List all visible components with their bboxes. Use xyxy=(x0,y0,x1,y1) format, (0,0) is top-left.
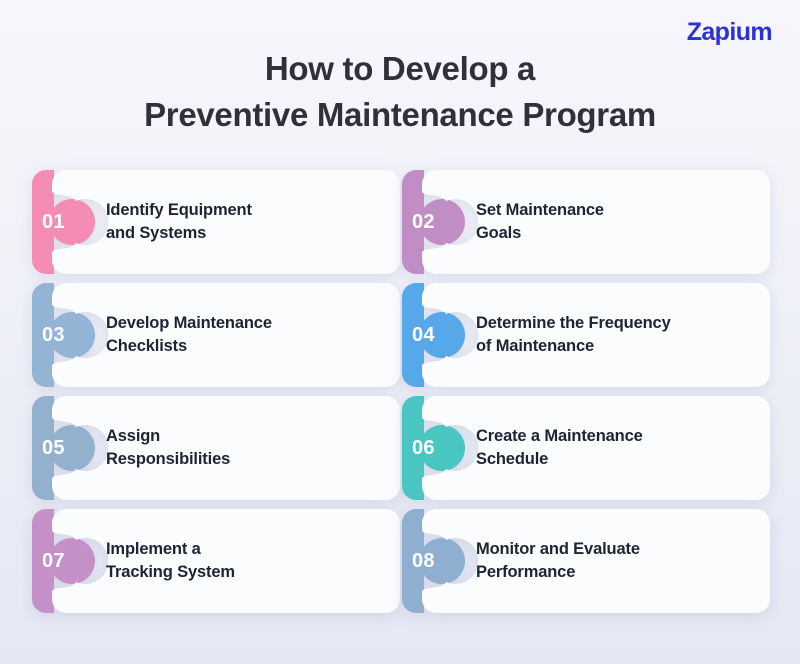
step-label: Create a MaintenanceSchedule xyxy=(476,396,754,500)
step-accent-bulge xyxy=(49,425,95,471)
step-label-line-2: Goals xyxy=(476,222,754,245)
brand-logo: Zapium xyxy=(687,20,772,45)
step-accent-bulge xyxy=(419,538,465,584)
step-card[interactable]: 08Monitor and EvaluatePerformance xyxy=(402,509,770,613)
page-title: How to Develop a Preventive Maintenance … xyxy=(0,46,800,137)
steps-grid: 01Identify Equipmentand Systems02Set Mai… xyxy=(32,170,770,613)
step-label: AssignResponsibilities xyxy=(106,396,384,500)
step-label-line-2: Responsibilities xyxy=(106,448,384,471)
step-accent-bulge xyxy=(49,199,95,245)
step-label-line-1: Identify Equipment xyxy=(106,199,384,222)
step-label-line-2: and Systems xyxy=(106,222,384,245)
step-label: Implement aTracking System xyxy=(106,509,384,613)
step-label-line-1: Create a Maintenance xyxy=(476,425,754,448)
step-label: Set MaintenanceGoals xyxy=(476,170,754,274)
step-card[interactable]: 02Set MaintenanceGoals xyxy=(402,170,770,274)
step-accent-bulge xyxy=(49,312,95,358)
brand-name: Zapium xyxy=(687,20,772,45)
step-label-line-2: Schedule xyxy=(476,448,754,471)
step-label: Identify Equipmentand Systems xyxy=(106,170,384,274)
step-label: Develop MaintenanceChecklists xyxy=(106,283,384,387)
step-label-line-1: Implement a xyxy=(106,538,384,561)
step-label-line-2: Tracking System xyxy=(106,561,384,584)
step-label-line-1: Monitor and Evaluate xyxy=(476,538,754,561)
step-accent-bulge xyxy=(419,425,465,471)
step-label-line-2: Performance xyxy=(476,561,754,584)
step-label-line-1: Set Maintenance xyxy=(476,199,754,222)
step-card[interactable]: 06Create a MaintenanceSchedule xyxy=(402,396,770,500)
step-card[interactable]: 04Determine the Frequencyof Maintenance xyxy=(402,283,770,387)
page-title-line-1: How to Develop a xyxy=(0,46,800,92)
step-label-line-2: of Maintenance xyxy=(476,335,754,358)
step-card[interactable]: 07Implement aTracking System xyxy=(32,509,400,613)
step-label-line-1: Develop Maintenance xyxy=(106,312,384,335)
page-title-line-2: Preventive Maintenance Program xyxy=(0,92,800,138)
step-label: Monitor and EvaluatePerformance xyxy=(476,509,754,613)
step-label-line-1: Determine the Frequency xyxy=(476,312,754,335)
step-accent-bulge xyxy=(419,199,465,245)
step-card[interactable]: 03Develop MaintenanceChecklists xyxy=(32,283,400,387)
step-accent-bulge xyxy=(419,312,465,358)
step-card[interactable]: 01Identify Equipmentand Systems xyxy=(32,170,400,274)
step-accent-bulge xyxy=(49,538,95,584)
infographic-page: Zapium How to Develop a Preventive Maint… xyxy=(0,0,800,664)
step-card[interactable]: 05AssignResponsibilities xyxy=(32,396,400,500)
step-label: Determine the Frequencyof Maintenance xyxy=(476,283,754,387)
step-label-line-2: Checklists xyxy=(106,335,384,358)
step-label-line-1: Assign xyxy=(106,425,384,448)
